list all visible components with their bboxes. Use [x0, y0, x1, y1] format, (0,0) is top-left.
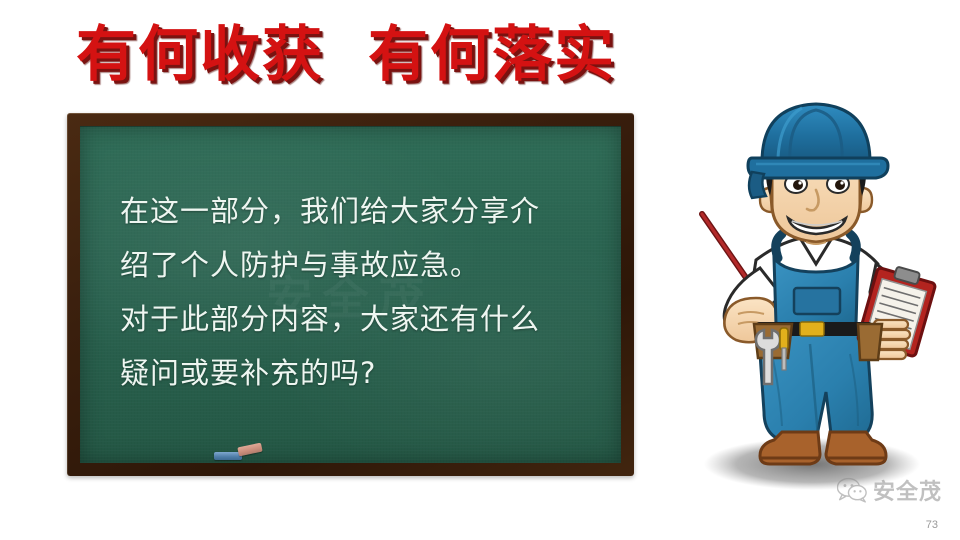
title-part-1: 有何收获 — [76, 25, 324, 85]
wechat-icon — [837, 477, 867, 503]
blackboard-surface: 安全茂 在这一部分，我们给大家分享介 绍了个人防护与事故应急。 对于此部分内容，… — [80, 126, 621, 463]
worker-illustration — [660, 92, 960, 492]
blackboard-line: 疑问或要补充的吗? — [120, 346, 621, 400]
blackboard-line: 绍了个人防护与事故应急。 — [120, 238, 621, 292]
blackboard-line: 在这一部分，我们给大家分享介 — [120, 184, 621, 238]
blackboard-line: 对于此部分内容，大家还有什么 — [120, 292, 621, 346]
page-title: 有何收获 有何落实 — [76, 16, 696, 94]
page-number: 73 — [926, 519, 938, 531]
blackboard-text-block: 在这一部分，我们给大家分享介 绍了个人防护与事故应急。 对于此部分内容，大家还有… — [80, 126, 621, 400]
title-part-2: 有何落实 — [368, 25, 616, 85]
brand-watermark: 安全茂 — [837, 474, 942, 506]
brand-name: 安全茂 — [873, 474, 942, 506]
blackboard: 安全茂 在这一部分，我们给大家分享介 绍了个人防护与事故应急。 对于此部分内容，… — [67, 113, 634, 476]
slide-canvas: 有何收获 有何落实 安全茂 在这一部分，我们给大家分享介 绍了个人防护与事故应急… — [0, 0, 960, 540]
